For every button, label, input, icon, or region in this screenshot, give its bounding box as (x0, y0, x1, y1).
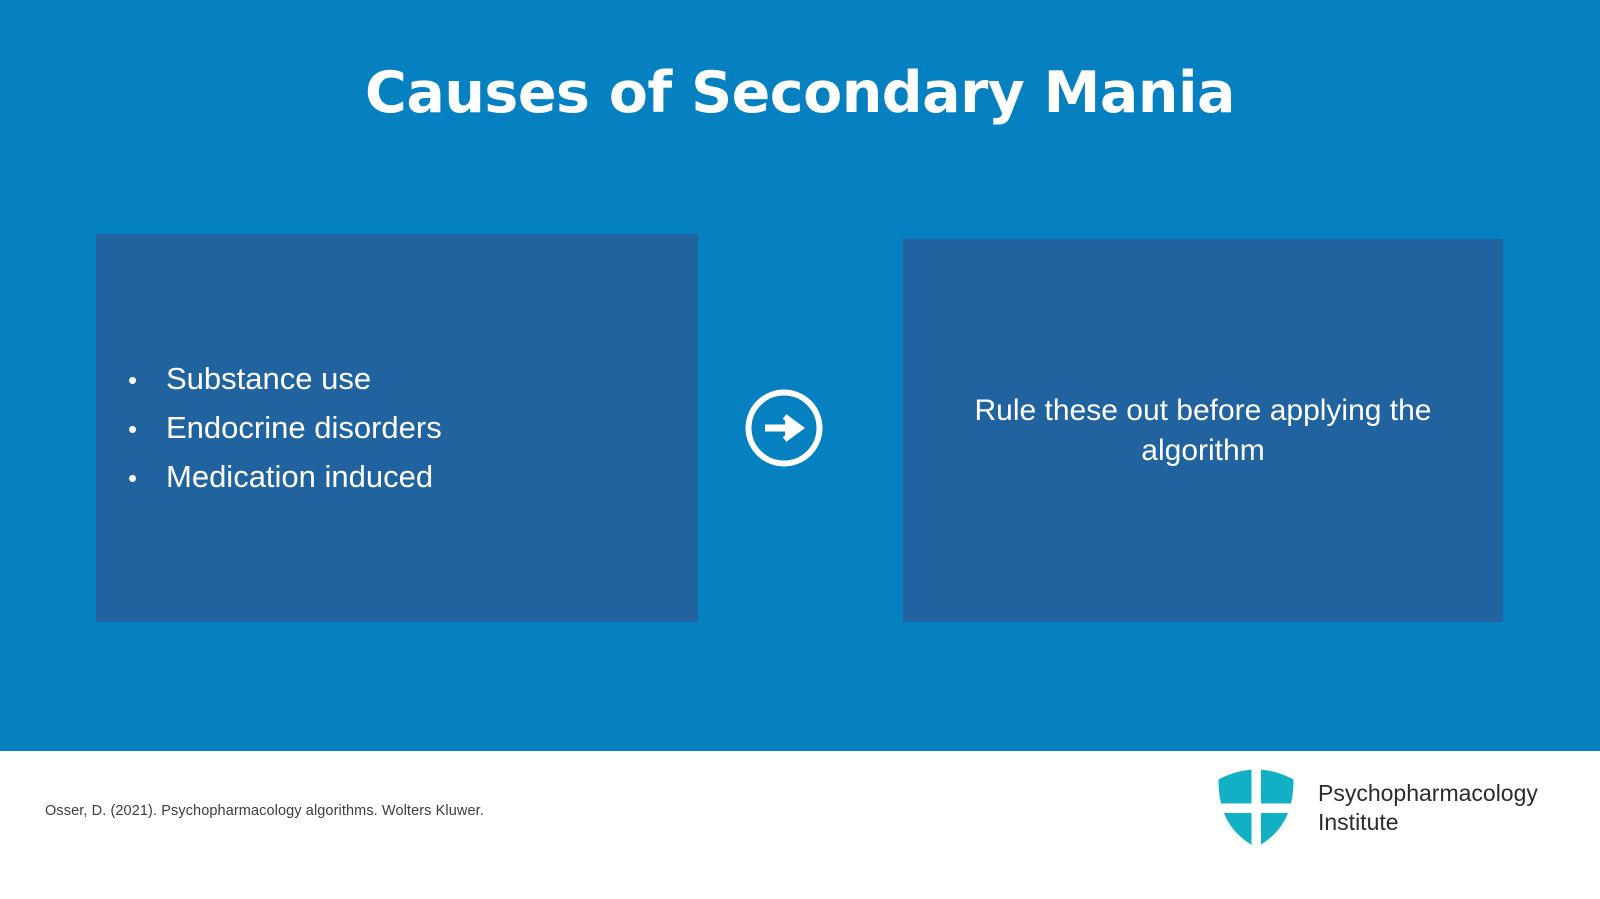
brand-name-line1: Psychopharmacology (1318, 779, 1538, 808)
citation-text: Osser, D. (2021). Psychopharmacology alg… (45, 803, 484, 819)
brand-name-line2: Institute (1318, 808, 1538, 837)
list-item: • Medication induced (128, 453, 698, 502)
page-title: Causes of Secondary Mania (0, 62, 1600, 125)
shield-logo-icon (1216, 767, 1296, 849)
slide-stage: Causes of Secondary Mania • Substance us… (0, 0, 1600, 751)
bullet-icon: • (128, 454, 166, 502)
list-item-label: Medication induced (166, 453, 433, 501)
slide-root: Causes of Secondary Mania • Substance us… (0, 0, 1600, 899)
arrow-right-circle-icon (744, 388, 824, 468)
brand-logo: Psychopharmacology Institute (1216, 766, 1538, 850)
causes-list: • Substance use • Endocrine disorders • … (96, 234, 698, 622)
bullet-icon: • (128, 356, 166, 404)
bullet-icon: • (128, 405, 166, 453)
list-item: • Substance use (128, 355, 698, 404)
list-item-label: Substance use (166, 355, 371, 403)
brand-wordmark: Psychopharmacology Institute (1318, 779, 1538, 837)
causes-panel: • Substance use • Endocrine disorders • … (96, 234, 698, 622)
callout-panel: Rule these out before applying the algor… (903, 239, 1503, 622)
list-item: • Endocrine disorders (128, 404, 698, 453)
list-item-label: Endocrine disorders (166, 404, 442, 452)
callout-text: Rule these out before applying the algor… (903, 239, 1503, 622)
